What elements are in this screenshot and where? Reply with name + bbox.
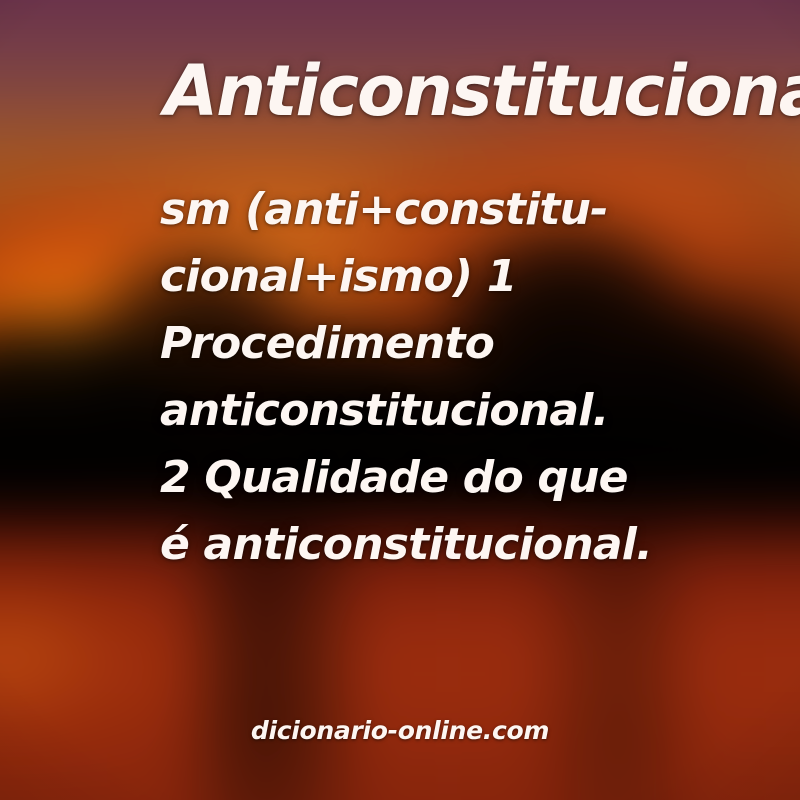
definition-line: anticonstitucional.: [160, 377, 800, 444]
definition-line: é anticonstitucional.: [160, 511, 800, 578]
definition-line: 2 Qualidade do que: [160, 444, 800, 511]
headword-title: Anticonstitucional: [164, 50, 800, 132]
site-watermark: dicionario-online.com: [0, 716, 800, 745]
definition-line: Procedimento: [160, 310, 800, 377]
definition-line: sm (anti+constitu-: [160, 176, 800, 243]
card-content: Anticonstitucional sm (anti+constitu- ci…: [0, 0, 800, 800]
definition-block: sm (anti+constitu- cional+ismo) 1 Proced…: [160, 176, 800, 578]
definition-line: cional+ismo) 1: [160, 243, 800, 310]
definition-card: Anticonstitucional sm (anti+constitu- ci…: [0, 0, 800, 800]
